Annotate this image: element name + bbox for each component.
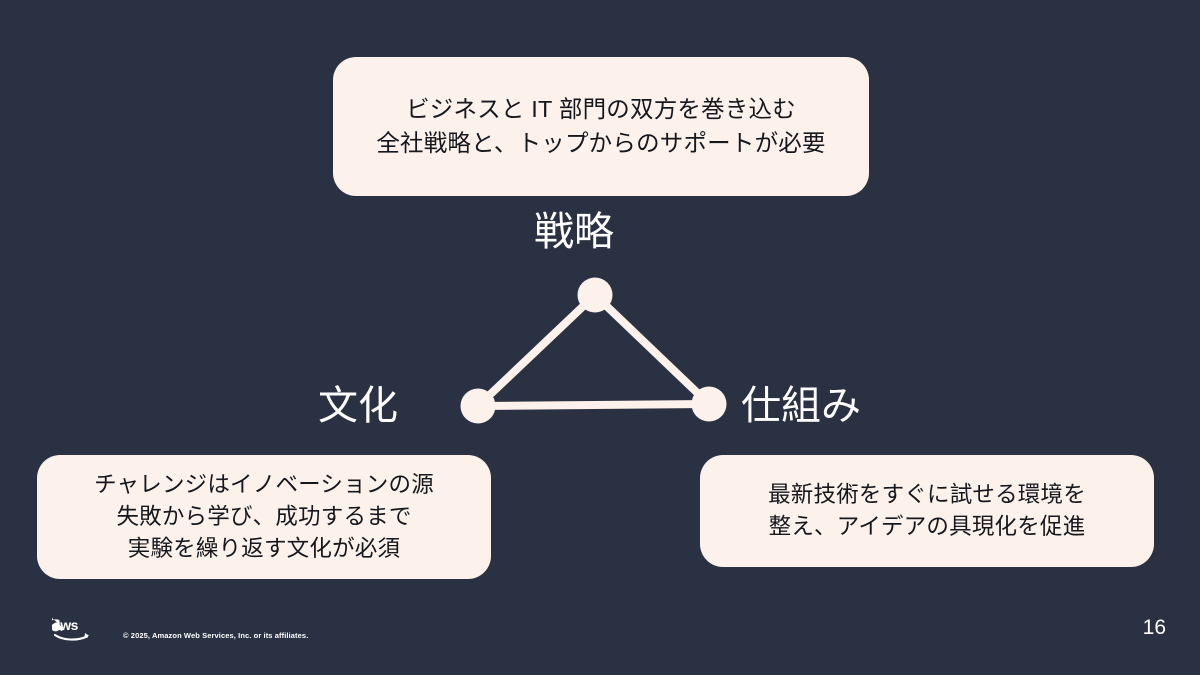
slide-canvas: ビジネスと IT 部門の双方を巻き込む 全社戦略と、トップからのサポートが必要 …: [0, 0, 1200, 675]
vertex-label-culture: 文化: [318, 386, 398, 426]
callout-strategy-text: ビジネスと IT 部門の双方を巻き込む 全社戦略と、トップからのサポートが必要: [376, 93, 825, 160]
triangle-node-strategy: [578, 278, 613, 313]
triangle-edge-strategy-culture: [478, 295, 595, 406]
copyright-text: © 2025, Amazon Web Services, Inc. or its…: [123, 631, 308, 640]
callout-culture: チャレンジはイノベーションの源 失敗から学び、成功するまで 実験を繰り返す文化が…: [37, 455, 491, 579]
triangle-node-culture: [461, 389, 496, 424]
vertex-label-strategy: 戦略: [534, 212, 614, 252]
callout-strategy: ビジネスと IT 部門の双方を巻き込む 全社戦略と、トップからのサポートが必要: [333, 57, 869, 196]
aws-logo-icon: aws: [52, 617, 102, 643]
triangle-node-mechanism: [692, 387, 727, 422]
callout-mechanism-text: 最新技術をすぐに試せる環境を 整え、アイデアの具現化を促進: [768, 479, 1086, 543]
callout-mechanism: 最新技術をすぐに試せる環境を 整え、アイデアの具現化を促進: [700, 455, 1154, 567]
svg-text:aws: aws: [53, 617, 79, 633]
vertex-label-mechanism: 仕組み: [741, 386, 861, 426]
triangle-edge-strategy-mechanism: [595, 295, 709, 404]
triangle-edge-culture-mechanism: [478, 404, 709, 406]
footer-left: aws © 2025, Amazon Web Services, Inc. or…: [52, 617, 308, 643]
callout-culture-text: チャレンジはイノベーションの源 失敗から学び、成功するまで 実験を繰り返す文化が…: [94, 469, 434, 565]
page-number: 16: [1143, 617, 1166, 638]
triangle-diagram: [440, 260, 750, 440]
